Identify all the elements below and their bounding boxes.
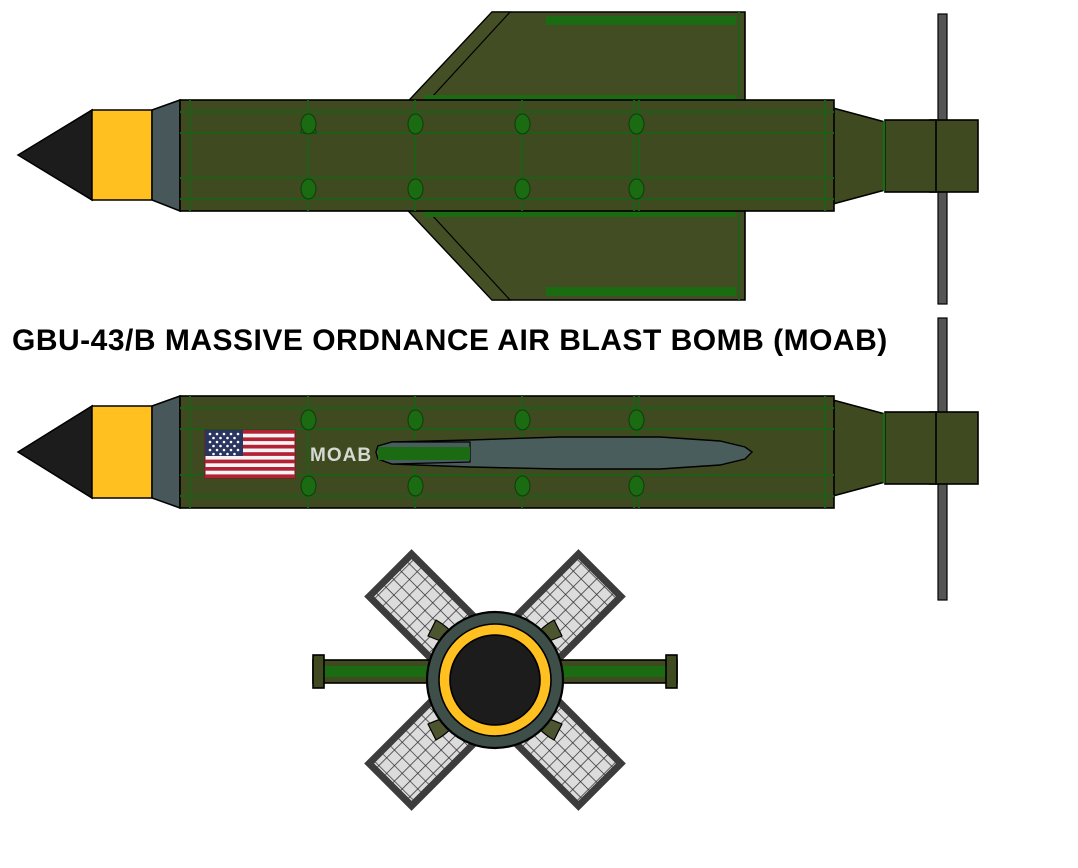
- top-view-nose-collar: [152, 100, 180, 211]
- moab-stencil-label: MOAB: [310, 445, 372, 466]
- top-view-nose-yellow-band: [92, 110, 152, 200]
- internal-warhead-capsule: [376, 437, 752, 469]
- side-view-nose-collar: [152, 396, 180, 508]
- tail-nozzle-center: [450, 635, 540, 725]
- warhead-nose-band: [378, 447, 470, 460]
- top-view-boat-tail: [833, 108, 885, 204]
- fin-strake-lower-outer: [546, 287, 736, 296]
- fin-strake-upper-outer: [546, 16, 736, 25]
- top-view-tail-can: [885, 120, 936, 192]
- page-title: GBU-43/B MASSIVE ORDNANCE AIR BLAST BOMB…: [12, 324, 888, 357]
- illustration-canvas: GBU-43/B MASSIVE ORDNANCE AIR BLAST BOMB…: [0, 0, 1078, 868]
- side-view-boat-tail: [833, 400, 885, 496]
- top-view-tail-ring: [930, 120, 978, 192]
- top-view-body: [180, 100, 834, 211]
- side-view-nose-yellow-band: [92, 406, 152, 498]
- united-states-flag-decal: [205, 430, 295, 478]
- side-view-tail-can: [885, 412, 936, 484]
- moab-technical-drawing: GBU-43/B MASSIVE ORDNANCE AIR BLAST BOMB…: [0, 0, 1078, 868]
- side-view-tail-ring: [930, 412, 978, 484]
